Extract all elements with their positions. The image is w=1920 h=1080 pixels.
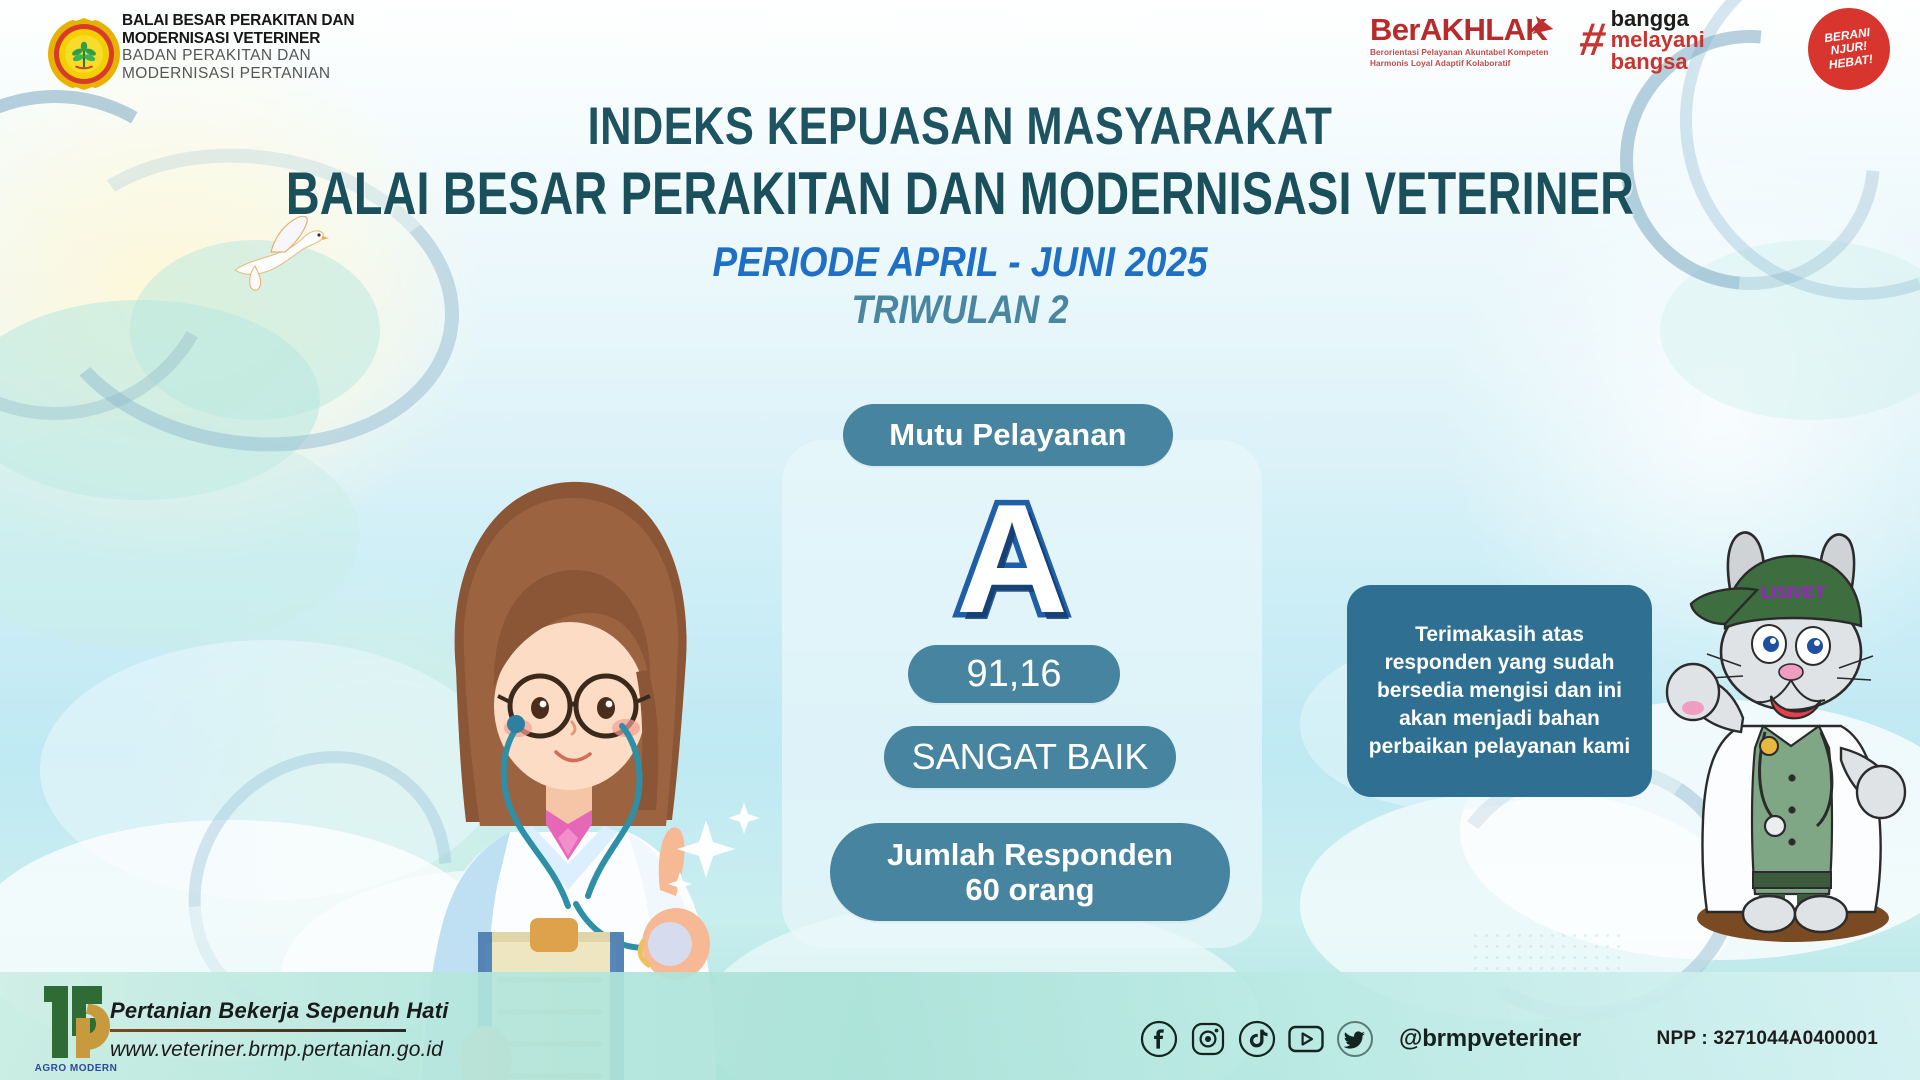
poster-root: BALAI BESAR PERAKITAN DAN MODERNISASI VE… [0, 0, 1920, 1080]
grade-letter: A [956, 481, 1068, 636]
predicate-badge: SANGAT BAIK [884, 726, 1176, 788]
facebook-icon[interactable] [1140, 1020, 1178, 1058]
thank-you-message: Terimakasih atas responden yang sudah be… [1347, 585, 1652, 797]
footer-tagline: Pertanian Bekerja Sepenuh Hati [110, 998, 449, 1024]
title-block: INDEKS KEPUASAN MASYARAKAT BALAI BESAR P… [0, 96, 1920, 333]
bangga-word-3: bangsa [1611, 51, 1705, 72]
logo-line-1: BALAI BESAR PERAKITAN DAN [122, 12, 422, 30]
grade-display: A [902, 478, 1122, 638]
berani-badge: BERANI NJUR! HEBAT! [1803, 3, 1896, 96]
twitter-icon[interactable] [1336, 1020, 1374, 1058]
berakhlak-tagline-1: Berorientasi Pelayanan Akuntabel Kompete… [1370, 48, 1590, 59]
cap-text: LISIVET [1761, 583, 1826, 602]
tiktok-icon[interactable] [1238, 1020, 1276, 1058]
berakhlak-wordmark: BerAKHLAK [1370, 12, 1547, 47]
social-links: @brmpveteriner [1140, 1020, 1581, 1058]
respondents-label: Jumlah Responden [887, 837, 1173, 872]
respondents-value: 60 orang [965, 872, 1094, 907]
logo-line-4: MODERNISASI PERTANIAN [122, 65, 422, 83]
berakhlak-arrow-icon: ➤ [1529, 9, 1557, 44]
bangga-melayani-bangsa-logo: # bangga melayani bangsa [1580, 8, 1770, 72]
social-handle: @brmpveteriner [1399, 1025, 1581, 1053]
institution-logo-text: BALAI BESAR PERAKITAN DAN MODERNISASI VE… [122, 12, 422, 83]
bangga-word-1: bangga [1611, 8, 1705, 29]
footer-band [0, 972, 1920, 1080]
agro-logo-caption: AGRO MODERN [28, 1063, 124, 1074]
berakhlak-tagline-2: Harmonis Loyal Adaptif Kolaboratif [1370, 59, 1590, 70]
youtube-icon[interactable] [1287, 1020, 1325, 1058]
kementan-seal-icon [48, 18, 120, 90]
instagram-icon[interactable] [1189, 1020, 1227, 1058]
title-period: PERIODE APRIL - JUNI 2025 [115, 238, 1805, 286]
cloud-shape [0, 420, 360, 650]
title-line-1: INDEKS KEPUASAN MASYARAKAT [173, 96, 1747, 157]
bangga-word-2: melayani [1611, 29, 1705, 50]
logo-line-3: BADAN PERAKITAN DAN [122, 47, 422, 65]
hash-icon: # [1577, 20, 1608, 59]
score-badge: 91,16 [908, 645, 1120, 703]
npp-label: NPP : 3271044A0400001 [1657, 1028, 1878, 1050]
berakhlak-logo: BerAKHLAK ➤ Berorientasi Pelayanan Akunt… [1370, 14, 1590, 69]
logo-line-2: MODERNISASI VETERINER [122, 30, 422, 48]
service-quality-badge: Mutu Pelayanan [843, 404, 1173, 466]
footer-website: www.veteriner.brmp.pertanian.go.id [110, 1038, 443, 1062]
title-quarter: TRIWULAN 2 [115, 288, 1805, 333]
title-line-2: BALAI BESAR PERAKITAN DAN MODERNISASI VE… [211, 159, 1709, 228]
footer-divider [110, 1029, 406, 1032]
respondents-badge: Jumlah Responden 60 orang [830, 823, 1230, 921]
rabbit-mascot: LISIVET [1645, 520, 1920, 1020]
